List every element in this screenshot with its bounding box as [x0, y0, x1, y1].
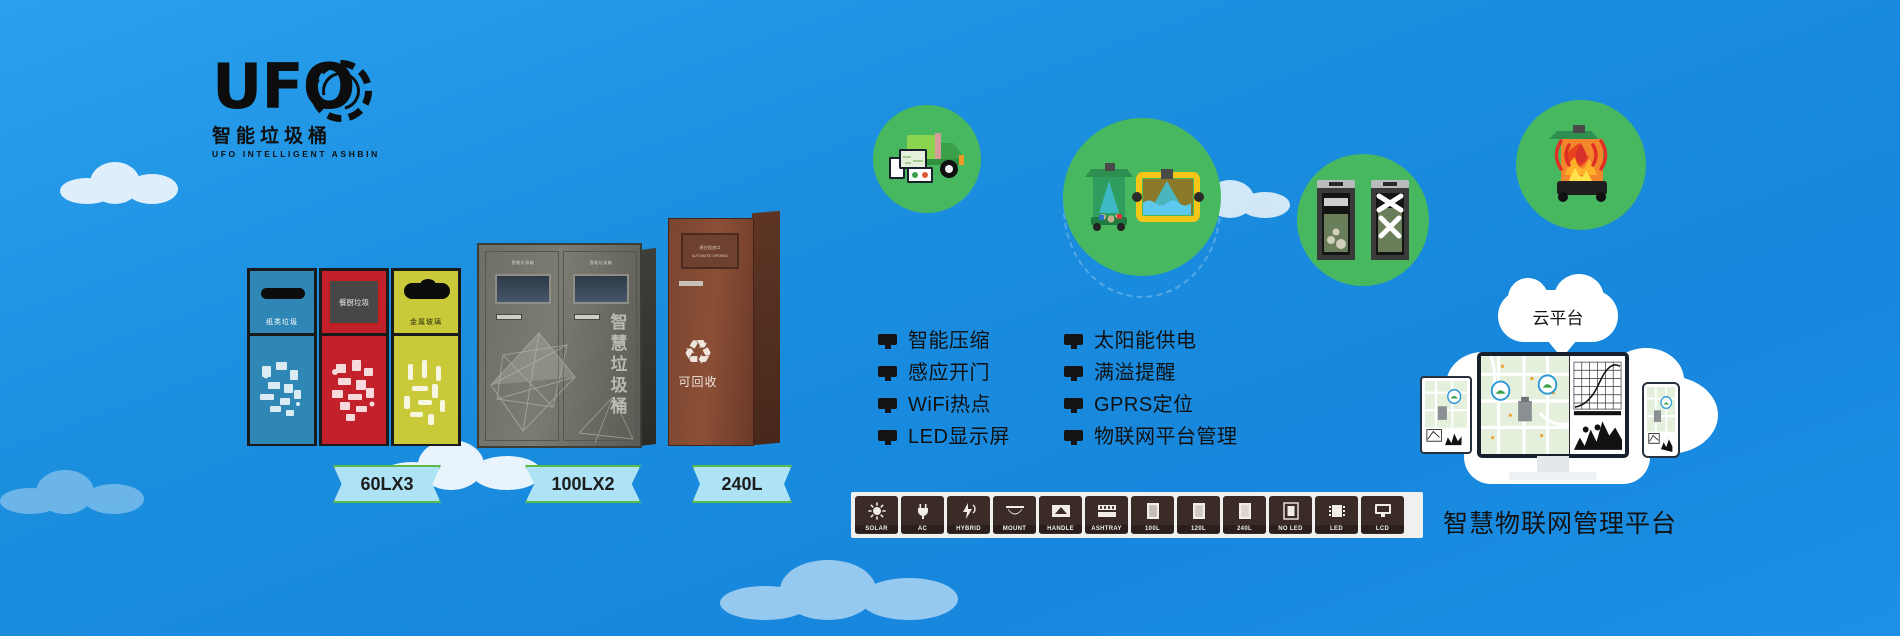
- metal-glass-waste-graphic: [394, 336, 458, 444]
- cloud-platform-bubble-label: 云平台: [1533, 304, 1584, 329]
- spec-icon-mount: MOUNT: [993, 496, 1036, 534]
- bin-panel-paper-top: 纸类垃圾: [250, 271, 314, 333]
- spec-icon-240l: 240L: [1223, 496, 1266, 534]
- capacity-tag-240l: 240L: [692, 465, 792, 503]
- hybrid-power-icon: [947, 496, 990, 525]
- spec-icon-caption: 240L: [1223, 525, 1266, 533]
- single-bin-window: 感应投放口 AUTOMATIC OPENING: [681, 233, 739, 269]
- solar-icon: [855, 496, 898, 525]
- bin-panel-kitchen-art: [322, 336, 386, 444]
- spec-icon-caption: LCD: [1361, 525, 1404, 533]
- analytics-chart-graphic: [1570, 356, 1625, 454]
- phone-device: [1642, 382, 1680, 458]
- recycle-icon: ♻: [669, 335, 727, 371]
- spec-icon-solar: SOLAR: [855, 496, 898, 534]
- feature-label: WiFi热点: [908, 393, 991, 417]
- feature-item: 感应开门: [878, 357, 1064, 389]
- spec-icon-caption: HYBRID: [947, 525, 990, 533]
- feature-column-left: 智能压缩 感应开门 WiFi热点 LED显示屏: [878, 325, 1064, 453]
- capacity-tag-60lx3: 60LX3: [333, 465, 441, 503]
- bin-panel-kitchen-window: 餐厨垃圾: [328, 279, 380, 325]
- feature-label: LED显示屏: [908, 425, 1010, 449]
- city-map-graphic: [1481, 356, 1569, 454]
- spec-icon-no-led: NO LED: [1269, 496, 1312, 534]
- logo-english-name: UFO INTELLIGENT ASHBIN: [212, 148, 402, 160]
- monitor-bullet-icon: [878, 430, 897, 445]
- bin-panel-metal-glass-top: 金属玻璃: [394, 271, 458, 333]
- fire-alarm-icon: [1516, 100, 1646, 230]
- monitor-bullet-icon: [1064, 334, 1083, 349]
- single-bin-recycle-label: 可回收: [669, 373, 727, 390]
- feature-column-right: 太阳能供电 满溢提醒 GPRS定位 物联网平台管理: [1064, 325, 1308, 453]
- phone-screen: [1647, 387, 1675, 453]
- feature-list: 智能压缩 感应开门 WiFi热点 LED显示屏 太阳能供电 满溢提醒: [878, 325, 1308, 453]
- feature-label: 满溢提醒: [1094, 361, 1176, 385]
- phone-dashboard-graphic: [1647, 387, 1675, 453]
- feature-item: 智能压缩: [878, 325, 1064, 357]
- bin-panel-kitchen-top: 餐厨垃圾: [322, 271, 386, 333]
- collection-truck-icon: [873, 105, 981, 213]
- bin-panel-kitchen: 餐厨垃圾: [319, 268, 389, 446]
- monitor-bullet-icon: [1064, 366, 1083, 381]
- banner-stage: UFO 智能垃圾桶 UFO INTELLIGENT ASHBIN 纸类垃圾: [0, 0, 1900, 636]
- brand-logo: UFO 智能垃圾桶 UFO INTELLIGENT ASHBIN: [212, 58, 402, 158]
- circle-compaction: [1063, 118, 1221, 276]
- mount-icon: [993, 496, 1036, 525]
- spec-icon-lcd: LCD: [1361, 496, 1404, 534]
- feature-label: GPRS定位: [1094, 393, 1194, 417]
- no-led-icon: [1269, 496, 1312, 525]
- cloud-decor-left: [60, 160, 190, 206]
- feature-label: 智能压缩: [908, 329, 990, 353]
- spec-icon-120l: 120L: [1177, 496, 1220, 534]
- spec-icon-caption: MOUNT: [993, 525, 1036, 533]
- twin-bin-screen-right: [573, 274, 629, 304]
- bin-panel-paper-art: [250, 336, 314, 444]
- monitor-bullet-icon: [878, 366, 897, 381]
- spec-icon-caption: HANDLE: [1039, 525, 1082, 533]
- capacity-tag-100lx2: 100LX2: [525, 465, 641, 503]
- spec-icon-strip: SOLAR AC HYBRID MOUNT HANDLE: [851, 492, 1423, 538]
- capacity-100l-icon: [1131, 496, 1174, 525]
- compaction-icon: [1063, 118, 1221, 276]
- spec-icon-led: LED: [1315, 496, 1358, 534]
- feature-item: LED显示屏: [878, 421, 1064, 453]
- tablet-device: [1420, 376, 1472, 454]
- single-bin-window-caption-en: AUTOMATIC OPENING: [683, 253, 737, 260]
- twin-bin-product: 智能垃圾箱 智能垃圾箱 智慧垃圾桶: [477, 243, 642, 448]
- spec-icon-hybrid: HYBRID: [947, 496, 990, 534]
- desktop-monitor: [1477, 352, 1629, 458]
- monitor-bullet-icon: [878, 398, 897, 413]
- capacity-240l-icon: [1223, 496, 1266, 525]
- ashtray-icon: [1085, 496, 1128, 525]
- spec-icon-caption: 100L: [1131, 525, 1174, 533]
- spec-icon-caption: AC: [901, 525, 944, 533]
- twin-bin-screen-left: [495, 274, 551, 304]
- paper-waste-graphic: [250, 336, 314, 444]
- single-bin-handle: [679, 281, 703, 286]
- monitor-bullet-icon: [878, 334, 897, 349]
- circle-dual-bin: [1297, 154, 1429, 286]
- single-bin-product: 感应投放口 AUTOMATIC OPENING ♻ 可回收: [668, 218, 780, 446]
- circle-collection-truck: [873, 105, 981, 213]
- spec-icon-caption: 120L: [1177, 525, 1220, 533]
- bin-panel-paper-label: 纸类垃圾: [250, 317, 314, 327]
- feature-item: WiFi热点: [878, 389, 1064, 421]
- bin-panel-metal-glass: 金属玻璃: [391, 268, 461, 446]
- spec-icon-caption: LED: [1315, 525, 1358, 533]
- spec-icon-caption: ASHTRAY: [1085, 525, 1128, 533]
- monitor-bullet-icon: [1064, 430, 1083, 445]
- cloud-decor-farleft: [0, 470, 150, 514]
- spec-icon-caption: NO LED: [1269, 525, 1312, 533]
- spec-icon-caption: SOLAR: [855, 525, 898, 533]
- bin-panel-kitchen-label: 餐厨垃圾: [330, 297, 378, 308]
- feature-item: 满溢提醒: [1064, 357, 1308, 389]
- twin-bin-caption-left: 智能垃圾箱: [494, 260, 552, 270]
- single-bin-window-caption: 感应投放口: [683, 244, 737, 251]
- monitor-bezel: [1477, 352, 1629, 458]
- kitchen-waste-graphic: [322, 336, 386, 444]
- feature-item: 物联网平台管理: [1064, 421, 1308, 453]
- monitor-screen: [1481, 356, 1625, 454]
- spec-icon-ashtray: ASHTRAY: [1085, 496, 1128, 534]
- feature-item: GPRS定位: [1064, 389, 1308, 421]
- twin-bin-body: 智能垃圾箱 智能垃圾箱 智慧垃圾桶: [477, 243, 642, 448]
- monitor-map-panel: [1481, 356, 1569, 454]
- triple-bin-product: 纸类垃圾 餐厨垃圾: [247, 268, 462, 448]
- spec-icon-100l: 100L: [1131, 496, 1174, 534]
- twin-bin-side: [640, 248, 656, 446]
- feature-label: 感应开门: [908, 361, 990, 385]
- logo-mark: UFO: [212, 58, 402, 124]
- single-bin-recycle-mark: ♻ 可回收: [669, 335, 727, 390]
- circle-fire-alarm: [1516, 100, 1646, 230]
- feature-label: 太阳能供电: [1094, 329, 1197, 353]
- twin-bin-caption-right: 智能垃圾箱: [572, 260, 630, 270]
- monitor-bullet-icon: [1064, 398, 1083, 413]
- bin-panel-metal-glass-label: 金属玻璃: [394, 317, 458, 327]
- handle-icon: [1039, 496, 1082, 525]
- spec-icon-ac: AC: [901, 496, 944, 534]
- logo-chinese-name: 智能垃圾桶: [212, 126, 402, 148]
- led-icon: [1315, 496, 1358, 525]
- feature-label: 物联网平台管理: [1094, 425, 1238, 449]
- dual-bin-icon: [1297, 154, 1429, 286]
- cloud-decor-bottom: [720, 560, 960, 620]
- twin-bin-polygon-graphic: [483, 315, 633, 445]
- logo-ring-icon: [310, 60, 372, 122]
- lcd-icon: [1361, 496, 1404, 525]
- feature-item: 太阳能供电: [1064, 325, 1308, 357]
- ac-plug-icon: [901, 496, 944, 525]
- cloud-platform-title: 智慧物联网管理平台: [1410, 504, 1710, 540]
- monitor-base: [1509, 472, 1597, 480]
- cloud-platform-illustration: 云平台: [1420, 290, 1720, 500]
- bin-panel-metal-glass-art: [394, 336, 458, 444]
- monitor-chart-panel: [1569, 356, 1625, 454]
- single-bin-side: [752, 211, 780, 445]
- tablet-screen: [1425, 381, 1467, 449]
- spec-icon-handle: HANDLE: [1039, 496, 1082, 534]
- tablet-dashboard-graphic: [1425, 381, 1467, 449]
- bin-panel-paper: 纸类垃圾: [247, 268, 317, 446]
- single-bin-front: 感应投放口 AUTOMATIC OPENING ♻ 可回收: [668, 218, 754, 446]
- capacity-120l-icon: [1177, 496, 1220, 525]
